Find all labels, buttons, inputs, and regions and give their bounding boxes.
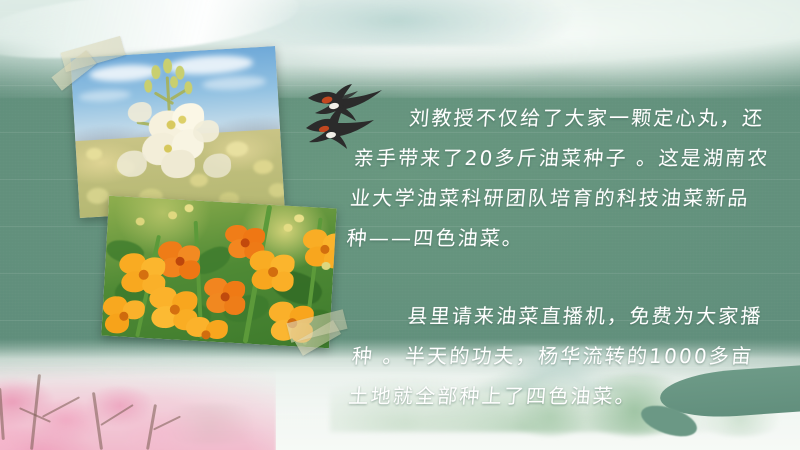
paragraph-1: 刘教授不仅给了大家一颗定心丸，还亲手带来了20多斤油菜种子 。这是湖南农业大学油… [345,98,779,258]
cherry-blossom-branches [0,346,300,450]
slide-canvas: 刘教授不仅给了大家一颗定心丸，还亲手带来了20多斤油菜种子 。这是湖南农业大学油… [0,0,800,450]
white-rapeseed-flower-photo[interactable] [70,46,284,218]
paragraph-2: 县里请来油菜直播机，免费为大家播种 。半天的功夫，杨华流转的1000多亩土地就全… [347,296,777,416]
subtitle-text-block: 刘教授不仅给了大家一颗定心丸，还亲手带来了20多斤油菜种子 。这是湖南农业大学油… [352,78,772,436]
